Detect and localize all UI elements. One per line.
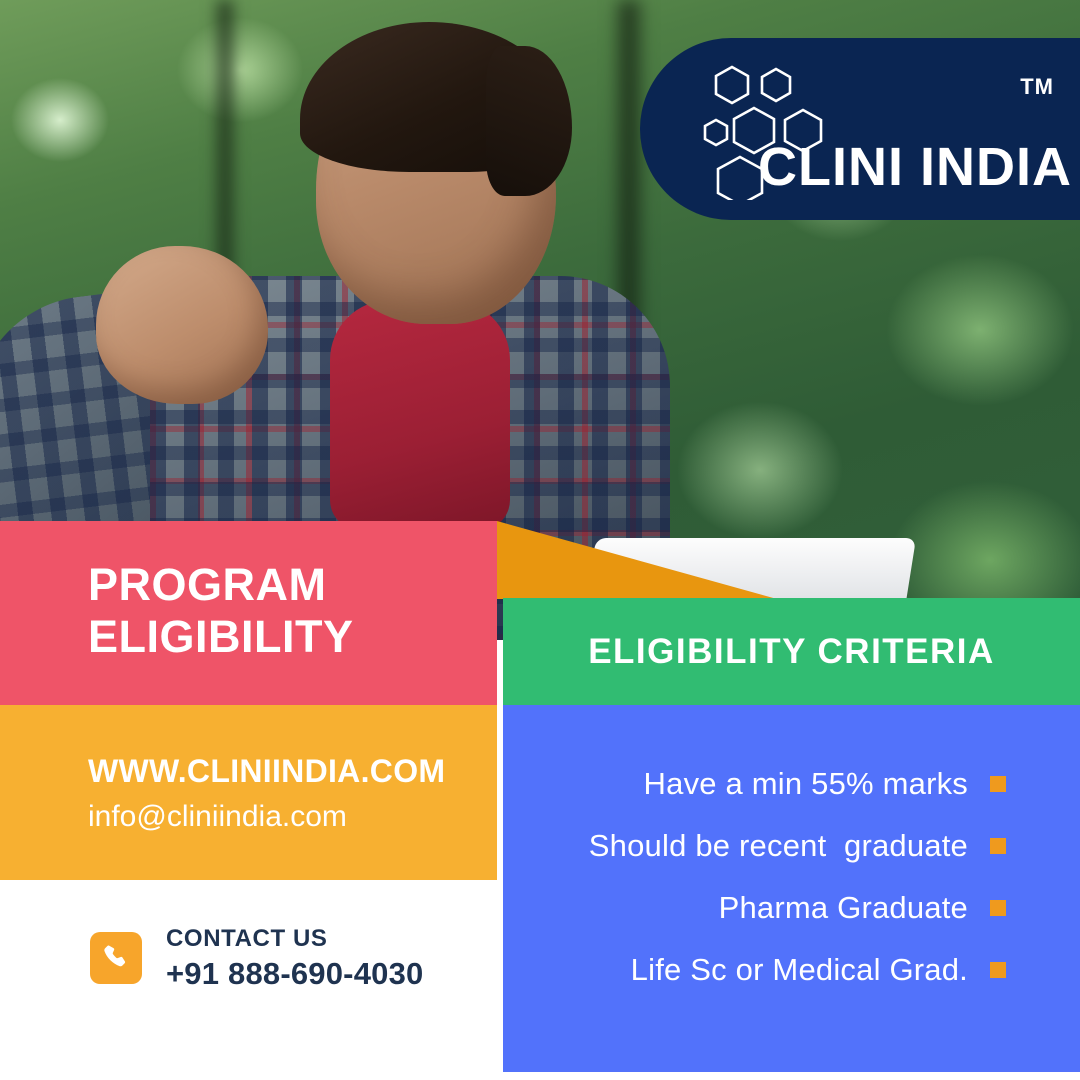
bullet-square-icon xyxy=(990,776,1006,792)
website-url[interactable]: WWW.CLINIINDIA.COM xyxy=(88,753,445,790)
photo-person-tshirt xyxy=(330,300,510,530)
contact-section: CONTACT US +91 888-690-4030 xyxy=(0,880,497,1080)
list-item: Life Sc or Medical Grad. xyxy=(503,939,1080,1001)
eligibility-criteria-header-panel: ELIGIBILITY CRITERIA xyxy=(503,598,1080,705)
contact-phone-number[interactable]: +91 888-690-4030 xyxy=(166,955,423,992)
contact-label: CONTACT US xyxy=(166,925,423,953)
contact-text-block: CONTACT US +91 888-690-4030 xyxy=(166,925,423,992)
criteria-text: Have a min 55% marks xyxy=(644,766,968,802)
program-eligibility-panel: PROGRAM ELIGIBILITY xyxy=(0,521,497,705)
criteria-text: Pharma Graduate xyxy=(719,890,968,926)
page-title: PROGRAM ELIGIBILITY xyxy=(88,559,354,663)
list-item: Have a min 55% marks xyxy=(503,753,1080,815)
bullet-square-icon xyxy=(990,838,1006,854)
bullet-square-icon xyxy=(990,900,1006,916)
criteria-text: Life Sc or Medical Grad. xyxy=(631,952,968,988)
list-item: Should be recent graduate xyxy=(503,815,1080,877)
phone-icon xyxy=(90,932,142,984)
contact-block[interactable]: CONTACT US +91 888-690-4030 xyxy=(90,925,423,992)
list-item: Pharma Graduate xyxy=(503,877,1080,939)
criteria-list: Have a min 55% marks Should be recent gr… xyxy=(503,753,1080,1001)
photo-person-fist xyxy=(96,246,268,404)
section-heading: ELIGIBILITY CRITERIA xyxy=(588,632,995,672)
email-address[interactable]: info@cliniindia.com xyxy=(88,800,347,834)
promotional-poster: CLINI INDIA TM PROGRAM ELIGIBILITY ELIGI… xyxy=(0,0,1080,1080)
trademark-symbol: TM xyxy=(1020,74,1054,100)
web-contact-panel: WWW.CLINIINDIA.COM info@cliniindia.com xyxy=(0,705,497,880)
photo-person-hair-side xyxy=(486,46,572,196)
criteria-list-panel: Have a min 55% marks Should be recent gr… xyxy=(503,705,1080,1072)
criteria-text: Should be recent graduate xyxy=(589,828,968,864)
bullet-square-icon xyxy=(990,962,1006,978)
brand-logo-bar: CLINI INDIA TM xyxy=(640,38,1080,220)
brand-name: CLINI INDIA xyxy=(758,136,1072,198)
